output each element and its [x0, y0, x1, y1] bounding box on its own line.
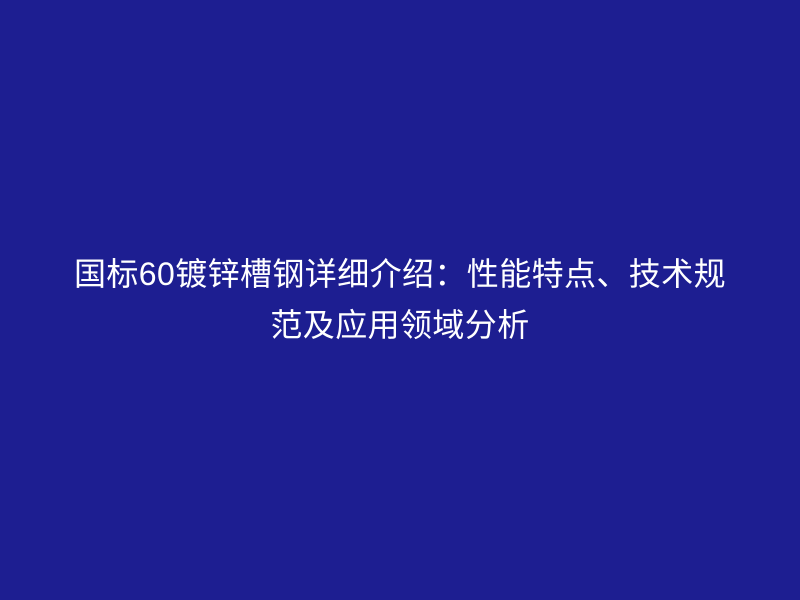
page-title: 国标60镀锌槽钢详细介绍：性能特点、技术规范及应用领域分析 — [58, 249, 742, 351]
title-banner: 国标60镀锌槽钢详细介绍：性能特点、技术规范及应用领域分析 — [0, 0, 800, 600]
headline-block: 国标60镀锌槽钢详细介绍：性能特点、技术规范及应用领域分析 — [50, 249, 750, 351]
